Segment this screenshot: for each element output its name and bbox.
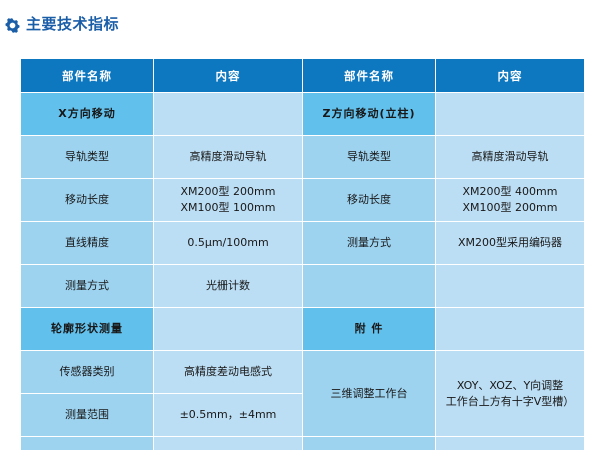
cell-name-left: 移动长度 [21, 179, 153, 221]
cell-value-right: XM200型 400mm XM100型 200mm [436, 179, 584, 221]
cell-name-right: 三维调整工作台 [303, 351, 435, 436]
cell-text: 传感器类别 [25, 364, 149, 380]
cell-name-right: 导轨类型 [303, 136, 435, 178]
cell-name-right: 附 件 [303, 308, 435, 350]
cell-text: 移动长度 [25, 192, 149, 208]
cell-value-left: 0.5μm/100mm [154, 222, 302, 264]
cell-name-right: 移动长度 [303, 179, 435, 221]
cell-text: XM200型采用编码器 [440, 235, 580, 251]
column-header-value-left: 内容 [154, 59, 302, 92]
table-row: 测量方式光栅计数 [21, 265, 584, 307]
gear-icon [5, 18, 20, 33]
column-header-name-right: 部件名称 [303, 59, 435, 92]
table-row: 轮廓形状测量附 件 [21, 308, 584, 350]
cell-name-left: X方向移动 [21, 93, 153, 135]
spec-table: 部件名称 内容 部件名称 内容 X方向移动Z方向移动(立柱)导轨类型高精度滑动导… [20, 58, 585, 450]
table-header-row: 部件名称 内容 部件名称 内容 [21, 59, 584, 92]
cell-text: XOY、XOZ、Y向调整 工作台上方有十字V型槽） [440, 378, 580, 410]
table-row: 导轨类型高精度滑动导轨导轨类型高精度滑动导轨 [21, 136, 584, 178]
cell-name-right: Z方向移动(立柱) [303, 93, 435, 135]
cell-value-left: 0.017μm,0.13μm [154, 437, 302, 450]
cell-value-left: XM200型 200mm XM100型 100mm [154, 179, 302, 221]
table-row: X方向移动Z方向移动(立柱) [21, 93, 584, 135]
cell-value-right: XOY、XOZ、Y向调整 工作台上方有十字V型槽） [436, 351, 584, 436]
cell-text: 三维调整工作台 [307, 386, 431, 402]
cell-text: 附 件 [307, 321, 431, 337]
cell-text: 直线精度 [25, 235, 149, 251]
page-title-bar: 主要技术指标 [0, 0, 600, 40]
cell-name-right: 测量方式 [303, 222, 435, 264]
cell-value-left: 高精度滑动导轨 [154, 136, 302, 178]
cell-value-right [436, 308, 584, 350]
cell-text: 光栅计数 [158, 278, 298, 294]
cell-text: 0.5μm/100mm [158, 235, 298, 251]
table-row: 传感器类别高精度差动电感式三维调整工作台XOY、XOZ、Y向调整 工作台上方有十… [21, 351, 584, 393]
cell-text: 测量方式 [307, 235, 431, 251]
cell-text: 高精度滑动导轨 [440, 149, 580, 165]
cell-value-right: XM200型采用编码器 [436, 222, 584, 264]
cell-name-right: 旋转工作台 [303, 437, 435, 450]
cell-name-left: 直线精度 [21, 222, 153, 264]
cell-text: XM200型 400mm XM100型 200mm [440, 184, 580, 216]
cell-text: 高精度滑动导轨 [158, 149, 298, 165]
table-row: 直线精度0.5μm/100mm测量方式XM200型采用编码器 [21, 222, 584, 264]
cell-text: 测量方式 [25, 278, 149, 294]
cell-value-left: ±0.5mm，±4mm [154, 394, 302, 436]
cell-text: 轮廓形状测量 [25, 321, 149, 337]
cell-text: 高精度差动电感式 [158, 364, 298, 380]
cell-value-left: 光栅计数 [154, 265, 302, 307]
column-header-name-left: 部件名称 [21, 59, 153, 92]
cell-value-left: 高精度差动电感式 [154, 351, 302, 393]
cell-name-left: 测量方式 [21, 265, 153, 307]
cell-text: 测量范围 [25, 407, 149, 423]
cell-name-left: 显示分辨率 [21, 437, 153, 450]
cell-text: Z方向移动(立柱) [307, 106, 431, 122]
page-title: 主要技术指标 [26, 17, 119, 32]
cell-text: 移动长度 [307, 192, 431, 208]
table-row: 移动长度XM200型 200mm XM100型 100mm移动长度XM200型 … [21, 179, 584, 221]
cell-name-left: 测量范围 [21, 394, 153, 436]
cell-text: X方向移动 [25, 106, 149, 122]
table-body: X方向移动Z方向移动(立柱)导轨类型高精度滑动导轨导轨类型高精度滑动导轨移动长度… [21, 93, 584, 450]
cell-value-left [154, 308, 302, 350]
cell-name-left: 轮廓形状测量 [21, 308, 153, 350]
table-header: 部件名称 内容 部件名称 内容 [21, 59, 584, 92]
spec-table-container: 部件名称 内容 部件名称 内容 X方向移动Z方向移动(立柱)导轨类型高精度滑动导… [20, 58, 580, 450]
cell-text: 导轨类型 [307, 149, 431, 165]
cell-name-left: 传感器类别 [21, 351, 153, 393]
cell-value-right [436, 93, 584, 135]
spec-page: 主要技术指标 部件名称 内容 部件名称 内容 X方向移动Z方向移动(立柱)导轨类… [0, 0, 600, 450]
cell-value-left [154, 93, 302, 135]
cell-text: 导轨类型 [25, 149, 149, 165]
cell-text: XM200型 200mm XM100型 100mm [158, 184, 298, 216]
cell-value-right: 高精度滑动导轨 [436, 136, 584, 178]
cell-text: ±0.5mm，±4mm [158, 407, 298, 423]
cell-value-right: XOZ摆角±35° [436, 437, 584, 450]
cell-value-right [436, 265, 584, 307]
cell-name-right [303, 265, 435, 307]
table-row: 显示分辨率0.017μm,0.13μm旋转工作台XOZ摆角±35° [21, 437, 584, 450]
cell-name-left: 导轨类型 [21, 136, 153, 178]
column-header-value-right: 内容 [436, 59, 584, 92]
